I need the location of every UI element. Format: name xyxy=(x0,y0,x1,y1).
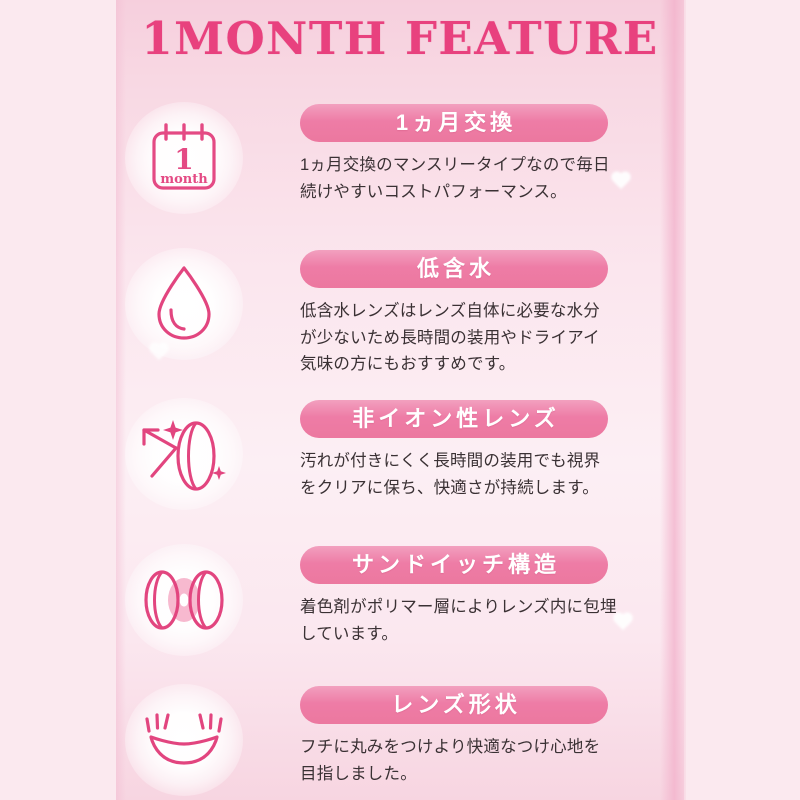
water-droplet-icon xyxy=(130,250,238,358)
icon-label-month: month xyxy=(160,172,208,187)
feature-description-1month: 1ヵ月交換のマンスリータイプなので毎日 続けやすいコストパフォーマンス。 xyxy=(300,152,670,205)
feature-content: 1ヵ月交換 1ヵ月交換のマンスリータイプなので毎日 続けやすいコストパフォーマン… xyxy=(300,104,670,205)
feature-badge-low-water[interactable]: 低含水 xyxy=(300,250,608,288)
feature-badge-1month[interactable]: 1ヵ月交換 xyxy=(300,104,608,142)
feature-description-non-ionic: 汚れが付きにくく長時間の装用でも視界 をクリアに保ち、快適さが持続します。 xyxy=(300,448,670,501)
feature-description-sandwich: 着色剤がポリマー層によりレンズ内に包埋 しています。 xyxy=(300,594,670,647)
lens-shape-smile-icon xyxy=(130,686,238,794)
panel-left-edge xyxy=(116,0,126,800)
page-title: 1MONTH FEATURE xyxy=(0,12,800,65)
feature-content: 低含水 低含水レンズはレンズ自体に必要な水分 が少ないため長時間の装用やドライア… xyxy=(300,250,670,378)
feature-content: 非イオン性レンズ 汚れが付きにくく長時間の装用でも視界 をクリアに保ち、快適さが… xyxy=(300,400,670,501)
feature-content: サンドイッチ構造 着色剤がポリマー層によりレンズ内に包埋 しています。 xyxy=(300,546,670,647)
feature-badge-sandwich[interactable]: サンドイッチ構造 xyxy=(300,546,608,584)
feature-description-lens-shape: フチに丸みをつけより快適なつけ心地を 目指しました。 xyxy=(300,734,670,787)
calendar-1month-icon: 1 month xyxy=(130,104,238,212)
sandwich-structure-lens-icon xyxy=(130,546,238,654)
feature-description-low-water: 低含水レンズはレンズ自体に必要な水分 が少ないため長時間の装用やドライアイ 気味… xyxy=(300,298,670,378)
feature-content: レンズ形状 フチに丸みをつけより快適なつけ心地を 目指しました。 xyxy=(300,686,670,787)
feature-page: 1MONTH FEATURE 1 month 1ヵ月交換 1ヵ月交換のマンスリー… xyxy=(0,0,800,800)
lens-repel-arrow-icon xyxy=(130,400,238,508)
feature-badge-lens-shape[interactable]: レンズ形状 xyxy=(300,686,608,724)
feature-badge-non-ionic[interactable]: 非イオン性レンズ xyxy=(300,400,608,438)
